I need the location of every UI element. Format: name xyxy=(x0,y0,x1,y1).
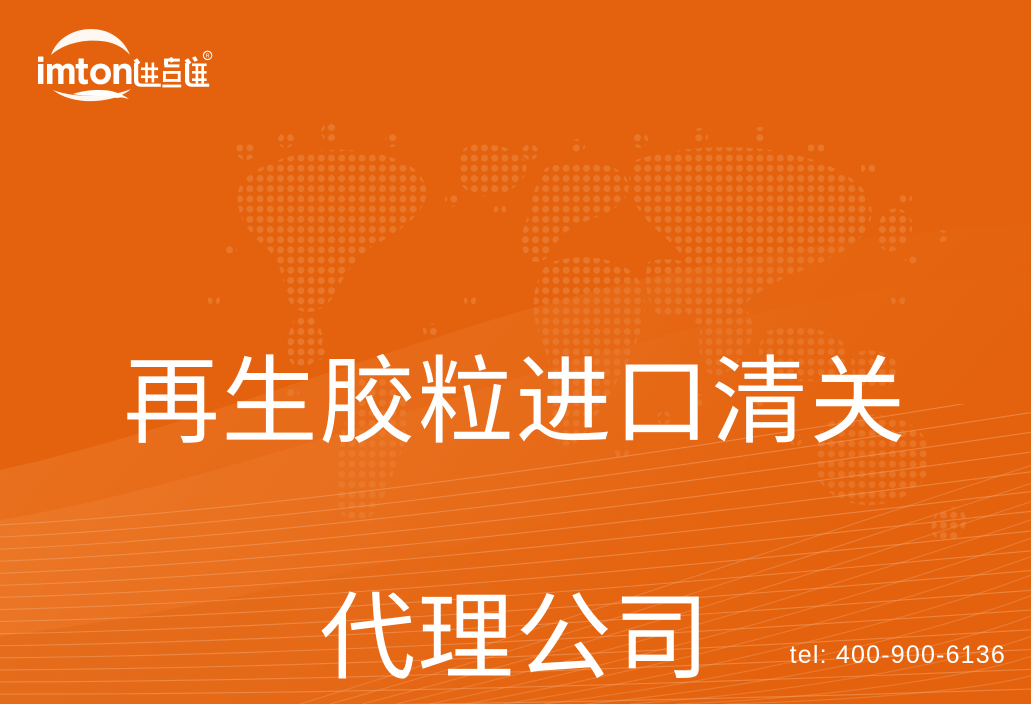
page-title-line-1: 再生胶粒进口清关 xyxy=(0,344,1031,462)
page-title-line-2: 代理公司 xyxy=(0,580,1031,698)
promo-banner: R 再生胶粒进口清关 代理公司 tel: 400-900-6136 xyxy=(0,0,1031,704)
globe-icon xyxy=(51,29,131,101)
logo-wordmark-cn: R xyxy=(134,51,212,87)
registered-trademark-icon: R xyxy=(203,51,211,59)
contact-phone[interactable]: tel: 400-900-6136 xyxy=(790,641,1006,670)
logo-wordmark-latin xyxy=(38,57,132,85)
page-title: 再生胶粒进口清关 代理公司 xyxy=(0,226,1031,704)
svg-text:R: R xyxy=(206,54,210,60)
imton-jinmaotong-logo[interactable]: R xyxy=(33,27,213,103)
